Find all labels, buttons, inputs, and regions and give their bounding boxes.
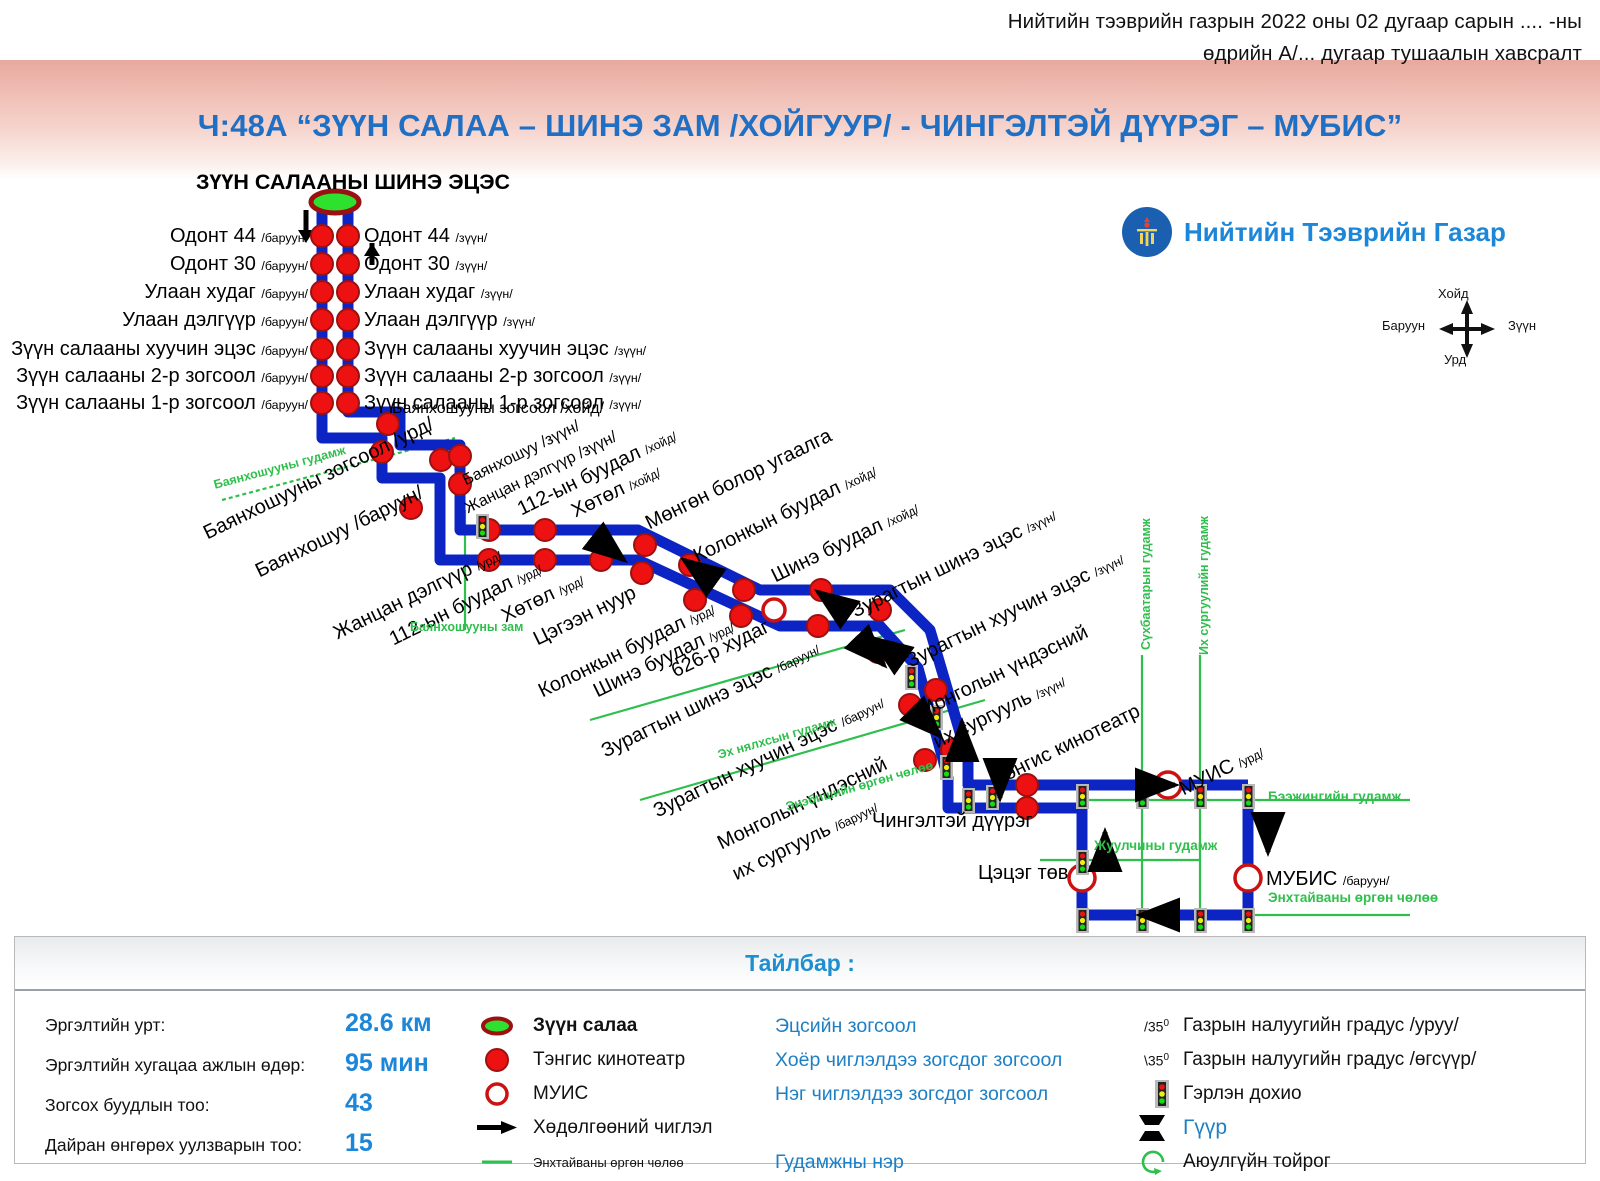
stop-label-left-0: Одонт 44 /баруун/	[0, 225, 308, 248]
legend-note-3: Гудамжны нэр	[775, 1145, 1125, 1179]
stop-label-left-3: Улаан дэлгүүр /баруун/	[0, 309, 308, 332]
legend-title: Тайлбар :	[745, 950, 855, 977]
traffic-light-icon	[1125, 1080, 1169, 1108]
legend-key-label-4: Энхтайваны өргөн чөлөө	[533, 1155, 684, 1170]
stat-value-1: 95 мин	[345, 1049, 429, 1078]
page-title: Ч:48А “ЗҮҮН САЛАА – ШИНЭ ЗАМ /ХОЙГУУР/ -…	[0, 108, 1600, 144]
stat-row-2: Зогсох буудлын тоо: 43	[45, 1089, 445, 1123]
stat-value-2: 43	[345, 1089, 373, 1118]
stat-value-3: 15	[345, 1129, 373, 1158]
legend-header: Тайлбар :	[15, 937, 1585, 991]
stop-label-left-1: Одонт 30 /баруун/	[0, 253, 308, 276]
stat-row-0: Эргэлтийн урт: 28.6 км	[45, 1009, 445, 1043]
bridge-icon	[1125, 1113, 1169, 1143]
legend-key-label-0: Зүүн салаа	[533, 1015, 637, 1037]
stat-label-0: Эргэлтийн урт:	[45, 1015, 345, 1036]
legend-symbol-4: Аюулгүйн тойрог	[1125, 1145, 1575, 1179]
legend-symbol-1: \350 Газрын налуугийн градус /өгсүүр/	[1125, 1043, 1575, 1077]
hollow-red-circle-icon	[475, 1081, 519, 1107]
header-note-line2: өдрийн А/... дугаар тушаалын хавсралт	[1008, 38, 1582, 70]
stop-label-left-2: Улаан худаг /баруун/	[0, 281, 308, 304]
stat-label-2: Зогсох буудлын тоо:	[45, 1095, 345, 1116]
stop-label-left-6: Зүүн салааны 1-р зогсоол /баруун/	[0, 392, 308, 415]
legend-key-label-3: Хөдөлгөөний чиглэл	[533, 1117, 713, 1139]
street-label-1: Баянхошууны зам	[410, 620, 523, 634]
stop-label-right-1: Одонт 30 /зүүн/	[364, 253, 487, 276]
terminal-title: ЗҮҮН САЛААНЫ ШИНЭ ЭЦЭС	[196, 170, 510, 195]
street-label-7: Жуулчины гудамж	[1094, 838, 1217, 853]
document-header-note: Нийтийн тээврийн газрын 2022 оны 02 дуга…	[1008, 6, 1582, 70]
legend-note-2: Нэг чиглэлдээ зогсдог зогсоол	[775, 1077, 1125, 1111]
legend-key-3: Хөдөлгөөний чиглэл	[475, 1111, 775, 1145]
stop-label-in-14: МУБИС /баруун/	[1266, 868, 1389, 891]
legend-symbol-label-1: Газрын налуугийн градус /өгсүүр/	[1183, 1049, 1476, 1071]
legend-panel: Тайлбар : Эргэлтийн урт: 28.6 км Эргэлти…	[14, 936, 1586, 1164]
legend-symbol-label-3: Гүүр	[1183, 1116, 1227, 1140]
stop-label-right-5: Зүүн салааны 2-р зогсоол /зүүн/	[364, 365, 641, 388]
street-label-5: Их сургуулийн гудамж	[1197, 516, 1211, 655]
terminal-oval-marker-icon	[475, 1016, 519, 1036]
legend-symbol-0: /350 Газрын налуугийн градус /уруу/	[1125, 1009, 1575, 1043]
legend-symbol-label-4: Аюулгүйн тойрог	[1183, 1151, 1331, 1173]
street-label-4: Сүхбаатарын гудамж	[1139, 518, 1153, 650]
stop-label-in-12: Чингэлтэй дүүрэг	[872, 810, 1033, 833]
arrow-right-icon	[475, 1119, 519, 1137]
stop-label-right-4: Зүүн салааны хуучин эцэс /зүүн/	[364, 338, 646, 361]
legend-key-2: МУИС	[475, 1077, 775, 1111]
legend-key-1: Тэнгис кинотеатр	[475, 1043, 775, 1077]
green-line-icon	[475, 1157, 519, 1167]
stop-label-left-5: Зүүн салааны 2-р зогсоол /баруун/	[0, 365, 308, 388]
stop-label-in-13: Цэцэг төв	[978, 862, 1068, 885]
stat-value-0: 28.6 км	[345, 1009, 432, 1038]
slope-up-icon: \350	[1125, 1052, 1169, 1069]
stat-row-3: Дайран өнгөрөх уулзварын тоо: 15	[45, 1129, 445, 1163]
filled-red-dot-icon	[475, 1047, 519, 1073]
legend-key-label-1: Тэнгис кинотеатр	[533, 1049, 685, 1071]
vertical-stop-dots	[311, 225, 359, 414]
legend-symbol-label-0: Газрын налуугийн градус /уруу/	[1183, 1015, 1459, 1037]
stat-row-1: Эргэлтийн хугацаа ажлын өдөр: 95 мин	[45, 1049, 445, 1083]
legend-symbols-column: /350 Газрын налуугийн градус /уруу/ \350…	[1125, 1009, 1575, 1179]
stop-label-right-0: Одонт 44 /зүүн/	[364, 225, 487, 248]
legend-keys-column: Зүүн салаа Тэнгис кинотеатр МУИС	[475, 1009, 775, 1179]
legend-key-4: Энхтайваны өргөн чөлөө	[475, 1145, 775, 1179]
legend-notes-column: Эцсийн зогсоол Хоёр чиглэлдээ зогсдог зо…	[775, 1009, 1125, 1179]
legend-stats-column: Эргэлтийн урт: 28.6 км Эргэлтийн хугацаа…	[45, 1009, 445, 1169]
stat-label-1: Эргэлтийн хугацаа ажлын өдөр:	[45, 1055, 345, 1076]
stat-label-3: Дайран өнгөрөх уулзварын тоо:	[45, 1135, 345, 1156]
legend-symbol-label-2: Гэрлэн дохио	[1183, 1083, 1302, 1105]
stop-label-right-2: Улаан худаг /зүүн/	[364, 281, 513, 304]
legend-key-0: Зүүн салаа	[475, 1009, 775, 1043]
legend-note-1: Хоёр чиглэлдээ зогсдог зогсоол	[775, 1043, 1125, 1077]
street-label-8: Энхтайваны өргөн чөлөө	[1268, 890, 1438, 905]
safety-circle-icon	[1125, 1148, 1169, 1176]
legend-symbol-3: Гүүр	[1125, 1111, 1575, 1145]
route-map-page: Нийтийн тээврийн газрын 2022 оны 02 дуга…	[0, 0, 1600, 1181]
street-label-6: Бээжингийн гудамж	[1268, 789, 1401, 804]
stop-label-right-3: Улаан дэлгүүр /зүүн/	[364, 309, 535, 332]
legend-key-label-2: МУИС	[533, 1083, 588, 1105]
stop-label-left-4: Зүүн салааны хуучин эцэс /баруун/	[0, 338, 308, 361]
legend-note-0: Эцсийн зогсоол	[775, 1009, 1125, 1043]
legend-body: Эргэлтийн урт: 28.6 км Эргэлтийн хугацаа…	[15, 991, 1585, 1165]
legend-symbol-2: Гэрлэн дохио	[1125, 1077, 1575, 1111]
slope-down-icon: /350	[1125, 1018, 1169, 1035]
header-note-line1: Нийтийн тээврийн газрын 2022 оны 02 дуга…	[1008, 6, 1582, 38]
